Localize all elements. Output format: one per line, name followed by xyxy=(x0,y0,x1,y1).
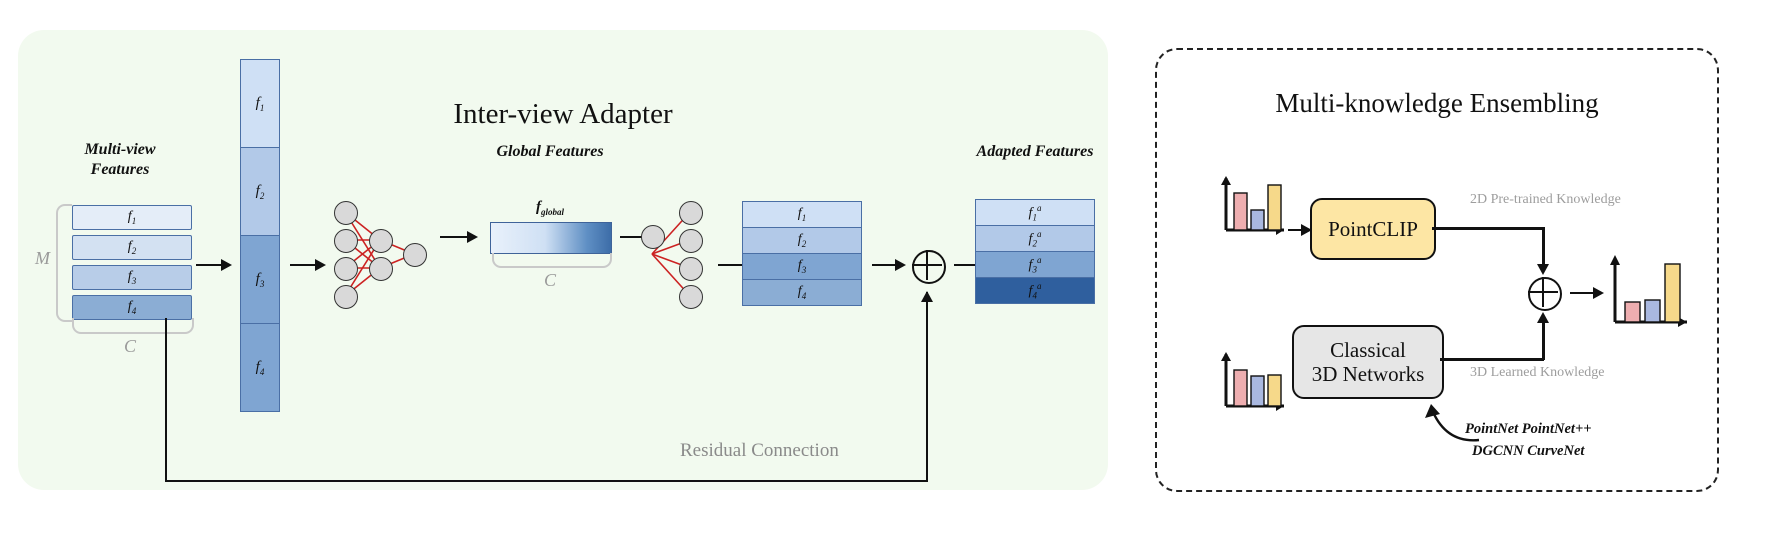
arrow-sum-to-output-chart xyxy=(1570,292,1602,294)
arrow-stack-to-column xyxy=(196,264,230,266)
connector-3dnet-arrow xyxy=(1542,322,1545,360)
pointclip-box[interactable]: PointCLIP xyxy=(1310,198,1436,260)
mlp-node xyxy=(334,257,358,281)
feature-row: f2 xyxy=(72,235,192,260)
bar-chart-icon-ensembled-output xyxy=(1605,250,1691,336)
network-names-list: PointNet PointNet++ DGCNN CurveNet xyxy=(1465,418,1591,463)
brace-c xyxy=(72,318,194,334)
feature-row: f2a xyxy=(975,225,1095,252)
bar-chart-icon-pointclip-input xyxy=(1218,172,1288,240)
bar-chart-icon-3dnet-input xyxy=(1218,348,1288,416)
plus-circle-icon xyxy=(912,250,946,284)
adapted-features-label: Adapted Features xyxy=(910,142,1160,162)
connector-3dnet xyxy=(1440,358,1544,361)
arrow-chart-to-pointclip xyxy=(1288,229,1310,231)
brace-c-global xyxy=(492,253,612,268)
connector-pointclip-arrow xyxy=(1542,227,1545,265)
column-segment: f1 xyxy=(240,59,280,148)
global-feature-bar xyxy=(490,222,612,254)
classical-3d-networks-box[interactable]: Classical 3D Networks xyxy=(1292,325,1444,399)
feature-row: f1 xyxy=(72,205,192,230)
decoder-node xyxy=(679,257,703,281)
multiview-feature-stack: f1 f2 f3 f4 xyxy=(72,205,192,325)
global-features-label: Global Features xyxy=(400,142,700,162)
classical-label-line2: 3D Networks xyxy=(1312,362,1425,386)
knowledge-3d-label: 3D Learned Knowledge xyxy=(1470,365,1605,381)
diagram-root: Inter-view Adapter Multi-view Features M… xyxy=(0,0,1766,550)
residual-arrow-up xyxy=(926,292,928,482)
decoded-feature-stack: f1 f2 f3 f4 xyxy=(742,202,862,306)
page-title: Inter-view Adapter xyxy=(18,98,1108,131)
concatenated-feature-column: f1 f2 f3 f4 xyxy=(240,60,280,412)
network-names-line2: DGCNN CurveNet xyxy=(1465,440,1591,462)
decoder-node xyxy=(641,225,665,249)
dim-label-m: M xyxy=(35,248,50,269)
brace-m xyxy=(56,204,72,322)
network-names-line1: PointNet PointNet++ xyxy=(1465,418,1591,440)
dim-label-c: C xyxy=(124,336,136,357)
column-segment: f3 xyxy=(240,235,280,324)
mlp-node xyxy=(334,201,358,225)
mlp-node xyxy=(369,257,393,281)
residual-connection-label: Residual Connection xyxy=(680,440,839,462)
feature-row: f1a xyxy=(975,199,1095,226)
feature-row: f4 xyxy=(72,295,192,320)
right-panel-title: Multi-knowledge Ensembling xyxy=(1157,88,1717,119)
multiview-features-label: Multi-view Features xyxy=(40,140,200,180)
classical-label-line1: Classical xyxy=(1330,338,1406,362)
feature-row: f2 xyxy=(742,227,862,254)
knowledge-2d-label: 2D Pre-trained Knowledge xyxy=(1470,192,1621,208)
mlp-node xyxy=(334,285,358,309)
decoder-node xyxy=(679,229,703,253)
adapted-feature-stack: f1a f2a f3a f4a xyxy=(975,200,1095,304)
feature-row: f3a xyxy=(975,251,1095,278)
dim-label-c-global: C xyxy=(544,270,556,291)
connector-pointclip xyxy=(1432,227,1544,230)
arrow-column-to-mlp xyxy=(290,264,324,266)
mlp-node xyxy=(369,229,393,253)
pointclip-label: PointCLIP xyxy=(1328,217,1418,241)
decoder-node xyxy=(679,285,703,309)
feature-row: f1 xyxy=(742,201,862,228)
arrow-mlp-to-global xyxy=(440,236,476,238)
feature-row: f3 xyxy=(742,253,862,280)
feature-row: f4a xyxy=(975,277,1095,304)
mlp-node xyxy=(334,229,358,253)
ensemble-plus-circle-icon xyxy=(1528,277,1562,311)
column-segment: f2 xyxy=(240,147,280,236)
feature-row: f3 xyxy=(72,265,192,290)
decoder-node xyxy=(679,201,703,225)
arrow-midstack-to-sum xyxy=(872,264,904,266)
residual-line-horizontal xyxy=(165,480,927,482)
global-feature-symbol: fglobal xyxy=(490,198,610,218)
mlp-node xyxy=(403,243,427,267)
feature-row: f4 xyxy=(742,279,862,306)
residual-line-vertical-left xyxy=(165,318,167,482)
column-segment: f4 xyxy=(240,323,280,412)
